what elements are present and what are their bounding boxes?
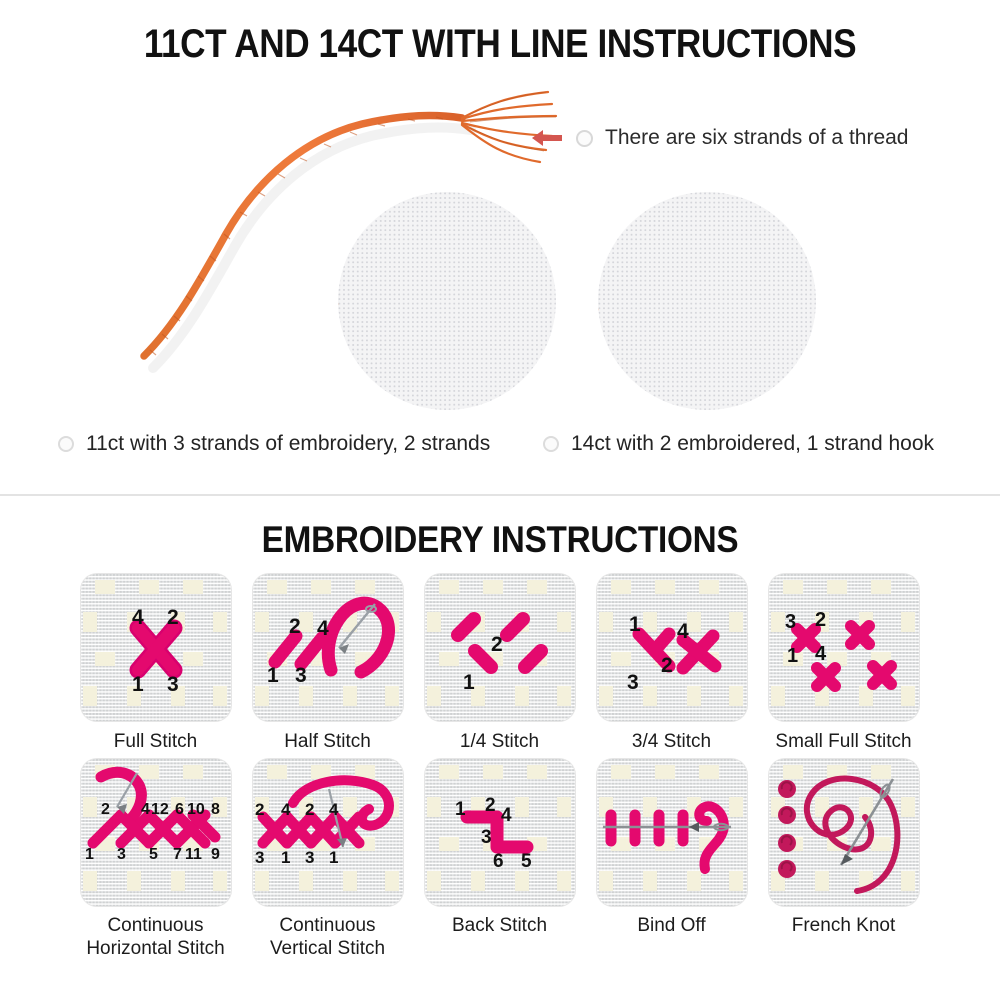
svg-text:6: 6 (175, 801, 184, 818)
svg-text:1: 1 (629, 613, 641, 636)
svg-text:3: 3 (305, 848, 314, 867)
svg-text:3: 3 (167, 673, 179, 696)
stitch-label: Continuous Vertical Stitch (270, 914, 385, 960)
svg-text:4: 4 (317, 617, 329, 640)
stitch-row-2: 2412 6108 135 7119 Continuous Horizontal… (78, 759, 938, 960)
stitch-label: Half Stitch (284, 730, 371, 753)
svg-text:5: 5 (149, 846, 158, 863)
stitch-cell-bind-off: Bind Off (594, 759, 749, 960)
stitch-cell-small-full-stitch: 32 14 Small Full Stitch (766, 574, 921, 753)
circle-bullet-icon (58, 436, 74, 452)
stitch-cell-full-stitch: 42 13 Full Stitch (78, 574, 233, 753)
bind-off-diagram (597, 759, 747, 906)
11ct-caption-text: 11ct with 3 strands of embroidery, 2 str… (86, 432, 490, 456)
svg-text:3: 3 (117, 846, 126, 863)
svg-text:2: 2 (305, 800, 314, 819)
svg-text:2: 2 (289, 615, 301, 638)
circle-bullet-icon (576, 130, 593, 147)
svg-text:4: 4 (141, 801, 150, 818)
stitch-label: Back Stitch (452, 914, 547, 937)
stitch-label: Small Full Stitch (775, 730, 911, 753)
stitch-cell-back-stitch: 124 365 Back Stitch (422, 759, 577, 960)
six-strands-note: There are six strands of a thread (530, 126, 909, 150)
svg-text:5: 5 (521, 851, 532, 872)
svg-text:2: 2 (485, 795, 496, 816)
14ct-caption-text: 14ct with 2 embroidered, 1 strand hook (571, 432, 934, 456)
svg-text:3: 3 (255, 848, 264, 867)
svg-text:3: 3 (785, 611, 796, 633)
instruction-sheet: 11CT AND 14CT WITH LINE INSTRUCTIONS (0, 0, 1000, 1000)
stitch-label: Full Stitch (114, 730, 197, 753)
half-stitch-diagram: 24 13 (253, 574, 403, 721)
continuous-horizontal-stitch-diagram: 2412 6108 135 7119 (81, 759, 231, 906)
stitch-label: Bind Off (637, 914, 705, 937)
small-full-stitch-diagram: 32 14 (769, 574, 919, 721)
svg-text:1: 1 (281, 848, 290, 867)
left-arrow-icon (530, 127, 564, 149)
svg-text:10: 10 (187, 801, 205, 818)
page-title-line-instructions: 11CT AND 14CT WITH LINE INSTRUCTIONS (60, 22, 940, 67)
svg-text:2: 2 (255, 800, 264, 819)
stitch-row-1: 42 13 Full Stitch (78, 574, 938, 753)
quarter-stitch-diagram: 2 1 (425, 574, 575, 721)
aida-fabric-texture (338, 192, 556, 410)
svg-text:2: 2 (661, 654, 673, 677)
page-title-embroidery: EMBROIDERY INSTRUCTIONS (50, 519, 950, 561)
svg-text:4: 4 (815, 643, 827, 665)
svg-text:1: 1 (85, 846, 94, 863)
svg-text:2: 2 (167, 606, 179, 629)
svg-text:1: 1 (132, 673, 144, 696)
14ct-caption-row: 14ct with 2 embroidered, 1 strand hook (543, 432, 934, 456)
svg-text:3: 3 (481, 827, 492, 848)
svg-text:6: 6 (493, 851, 504, 872)
embroidery-instructions-section: EMBROIDERY INSTRUCTIONS (0, 496, 1000, 1000)
svg-text:9: 9 (211, 846, 220, 863)
stitch-cell-three-quarter-stitch: 14 23 3/4 Stitch (594, 574, 749, 753)
svg-text:4: 4 (132, 606, 144, 629)
svg-text:1: 1 (455, 799, 466, 820)
continuous-vertical-stitch-diagram: 2424 3131 (253, 759, 403, 906)
line-instructions-section: 11CT AND 14CT WITH LINE INSTRUCTIONS (0, 0, 1000, 495)
stitch-label: 1/4 Stitch (460, 730, 539, 753)
svg-text:11: 11 (185, 846, 202, 863)
stitch-label: Continuous Horizontal Stitch (86, 914, 224, 960)
svg-text:1: 1 (463, 671, 475, 694)
svg-text:1: 1 (787, 645, 798, 667)
stitch-grid: 42 13 Full Stitch (78, 574, 938, 966)
stitch-cell-french-knot: French Knot (766, 759, 921, 960)
svg-text:7: 7 (173, 846, 182, 863)
svg-text:4: 4 (329, 800, 339, 819)
back-stitch-diagram: 124 365 (425, 759, 575, 906)
svg-text:2: 2 (815, 609, 826, 631)
svg-text:4: 4 (501, 805, 512, 826)
svg-text:3: 3 (295, 664, 307, 687)
stitch-cell-half-stitch: 24 13 Half Stitch (250, 574, 405, 753)
full-stitch-diagram: 42 13 (81, 574, 231, 721)
svg-text:4: 4 (281, 800, 291, 819)
stitch-cell-quarter-stitch: 2 1 1/4 Stitch (422, 574, 577, 753)
circle-bullet-icon (543, 436, 559, 452)
11ct-caption-row: 11ct with 3 strands of embroidery, 2 str… (58, 432, 490, 456)
svg-text:2: 2 (101, 801, 110, 818)
stitch-label: French Knot (792, 914, 896, 937)
14ct-swatch (598, 192, 816, 410)
stitch-cell-continuous-horizontal: 2412 6108 135 7119 Continuous Horizontal… (78, 759, 233, 960)
11ct-swatch (338, 192, 556, 410)
svg-text:2: 2 (491, 633, 503, 656)
svg-text:8: 8 (211, 801, 220, 818)
svg-text:4: 4 (677, 620, 689, 643)
svg-text:1: 1 (329, 848, 338, 867)
svg-text:3: 3 (627, 671, 639, 694)
stitch-label: 3/4 Stitch (632, 730, 711, 753)
three-quarter-stitch-diagram: 14 23 (597, 574, 747, 721)
aida-fabric-texture (598, 192, 816, 410)
six-strands-note-text: There are six strands of a thread (605, 126, 909, 150)
stitch-cell-continuous-vertical: 2424 3131 Continuous Vertical Stitch (250, 759, 405, 960)
svg-text:1: 1 (267, 664, 279, 687)
french-knot-diagram (769, 759, 919, 906)
svg-text:12: 12 (151, 801, 169, 818)
